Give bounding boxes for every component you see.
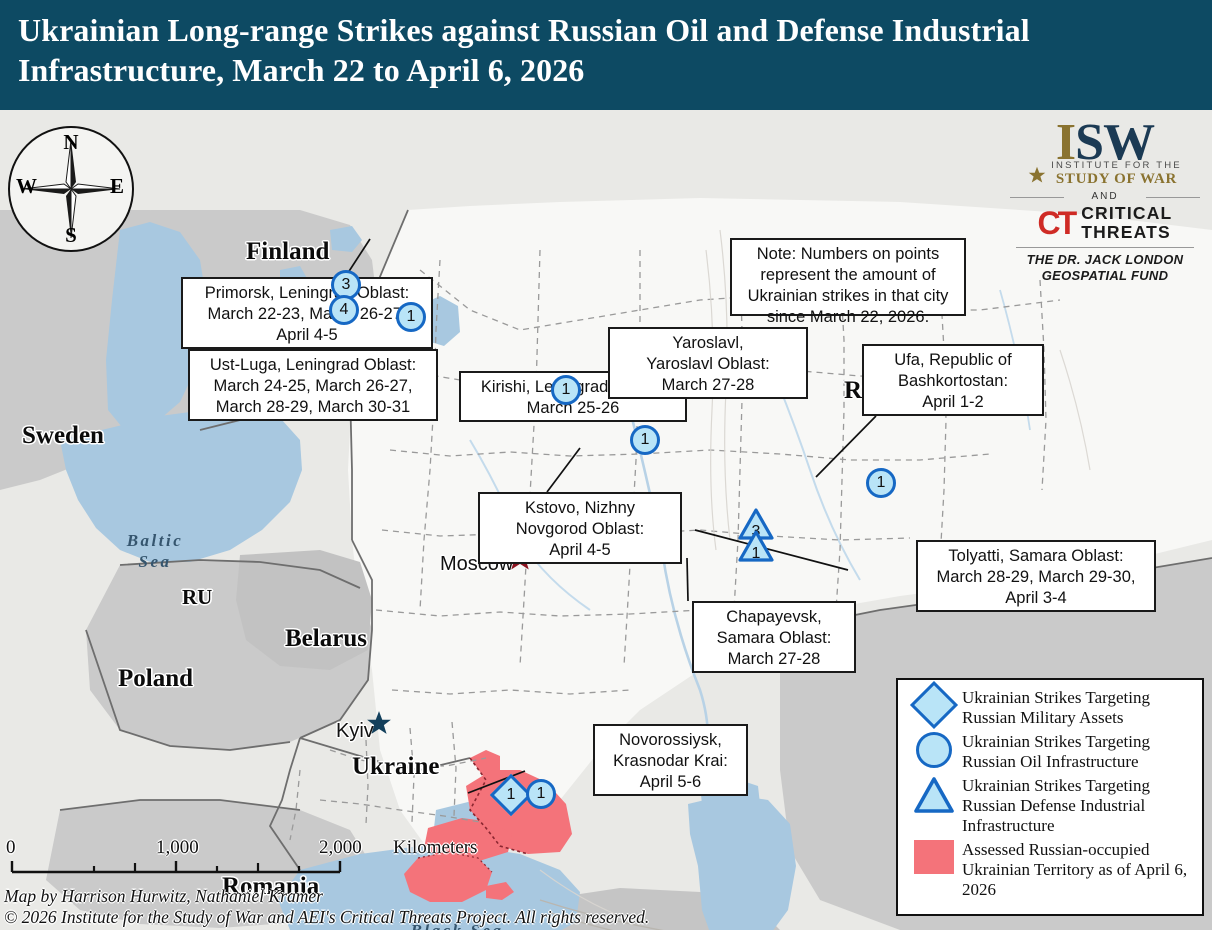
callout-tolyatti[interactable]: Tolyatti, Samara Oblast: March 28-29, Ma… [916, 540, 1156, 612]
marker-count: 1 [551, 375, 581, 405]
isw-star-icon [1028, 166, 1046, 184]
legend-circle-icon [906, 732, 962, 768]
country-label-ru: RU [182, 585, 212, 610]
country-label-belarus: Belarus [285, 625, 367, 653]
compass-north-label: N [10, 130, 132, 155]
ct-critical-line: CRITICAL [1081, 204, 1172, 223]
credit-line-copyright: © 2026 Institute for the Study of War an… [4, 907, 649, 928]
marker-kirishi[interactable]: 1 [396, 302, 426, 332]
marker-ufa[interactable]: 1 [866, 468, 896, 498]
page-header: Ukrainian Long-range Strikes against Rus… [0, 0, 1212, 110]
fund-line-2: GEOSPATIAL FUND [1010, 268, 1200, 284]
map-canvas[interactable]: Finland Sweden Russia RU Belarus Poland … [0, 110, 1212, 930]
marker-count: 1 [496, 780, 526, 810]
marker-count: 1 [396, 302, 426, 332]
map-page: Ukrainian Long-range Strikes against Rus… [0, 0, 1212, 930]
callout-chapayevsk[interactable]: Chapayevsk, Samara Oblast: March 27-28 [692, 601, 856, 673]
marker-count: 4 [329, 295, 359, 325]
ct-threats-line: THREATS [1081, 223, 1172, 242]
country-label-poland: Poland [118, 665, 193, 693]
marker-count: 1 [738, 530, 774, 570]
isw-logo: IISWSW INSTITUTE FOR THE STUDY OF WAR AN… [1010, 118, 1200, 284]
country-label-ukraine: Ukraine [352, 753, 440, 781]
map-legend: Ukrainian Strikes Targeting Russian Mili… [896, 678, 1204, 916]
isw-institute-line: INSTITUTE FOR THE [1051, 160, 1182, 171]
compass-rose: N S W E [8, 126, 134, 252]
marker-count: 1 [526, 779, 556, 809]
legend-triangle-icon [906, 776, 962, 814]
ct-monogram: CT [1038, 208, 1075, 238]
marker-novorossiysk-oil[interactable]: 1 [526, 779, 556, 809]
map-credits: Map by Harrison Hurwitz, Nathaniel Krame… [4, 886, 649, 928]
marker-chapayevsk[interactable]: 1 [738, 530, 774, 562]
compass-south-label: S [10, 223, 132, 248]
scale-bar: 0 1,000 2,000 Kilometers [6, 837, 356, 882]
marker-count: 1 [630, 425, 660, 455]
sea-label-baltic: Baltic Sea [110, 530, 200, 572]
compass-west-label: W [16, 174, 37, 199]
scale-units-label: Kilometers [393, 837, 477, 859]
legend-swatch-icon [906, 840, 962, 874]
isw-study-line: STUDY OF WAR [1051, 171, 1182, 188]
marker-yaroslavl[interactable]: 1 [551, 375, 581, 405]
kyiv-star-icon [366, 710, 392, 736]
critical-threats-logo: CT CRITICAL THREATS [1010, 204, 1200, 242]
marker-ust-luga[interactable]: 4 [329, 295, 359, 325]
legend-item-defense: Ukrainian Strikes Targeting Russian Defe… [906, 776, 1192, 836]
callout-kstovo[interactable]: Kstovo, Nizhny Novgorod Oblast: April 4-… [478, 492, 682, 564]
compass-east-label: E [110, 174, 124, 199]
legend-label: Ukrainian Strikes Targeting Russian Defe… [962, 776, 1192, 836]
marker-count: 1 [866, 468, 896, 498]
legend-item-oil: Ukrainian Strikes Targeting Russian Oil … [906, 732, 1192, 772]
marker-novorossiysk-military[interactable]: 1 [496, 780, 526, 810]
callout-ust-luga[interactable]: Ust-Luga, Leningrad Oblast: March 24-25,… [188, 349, 438, 421]
legend-item-military: Ukrainian Strikes Targeting Russian Mili… [906, 688, 1192, 728]
legend-label: Ukrainian Strikes Targeting Russian Mili… [962, 688, 1192, 728]
page-title: Ukrainian Long-range Strikes against Rus… [18, 10, 1212, 90]
country-label-sweden: Sweden [22, 422, 104, 450]
scale-tick-label-1000: 1,000 [156, 837, 199, 859]
callout-yaroslavl[interactable]: Yaroslavl, Yaroslavl Oblast: March 27-28 [608, 327, 808, 399]
scale-bar-graphic [6, 859, 356, 877]
marker-kstovo[interactable]: 1 [630, 425, 660, 455]
isw-and-divider: AND [1010, 191, 1200, 202]
fund-line-1: THE DR. JACK LONDON [1010, 252, 1200, 268]
scale-tick-label-2000: 2,000 [319, 837, 362, 859]
callout-ufa[interactable]: Ufa, Republic of Bashkortostan: April 1-… [862, 344, 1044, 416]
legend-diamond-icon [906, 688, 962, 722]
legend-label: Assessed Russian-occupied Ukrainian Terr… [962, 840, 1192, 900]
note-box: Note: Numbers on points represent the am… [730, 238, 966, 316]
scale-tick-label-0: 0 [6, 837, 16, 859]
legend-label: Ukrainian Strikes Targeting Russian Oil … [962, 732, 1192, 772]
callout-novorossiysk[interactable]: Novorossiysk, Krasnodar Krai: April 5-6 [593, 724, 748, 796]
legend-item-occupied: Assessed Russian-occupied Ukrainian Terr… [906, 840, 1192, 900]
isw-divider [1016, 247, 1194, 248]
country-label-finland: Finland [246, 238, 329, 266]
credit-line-authors: Map by Harrison Hurwitz, Nathaniel Krame… [4, 886, 649, 907]
